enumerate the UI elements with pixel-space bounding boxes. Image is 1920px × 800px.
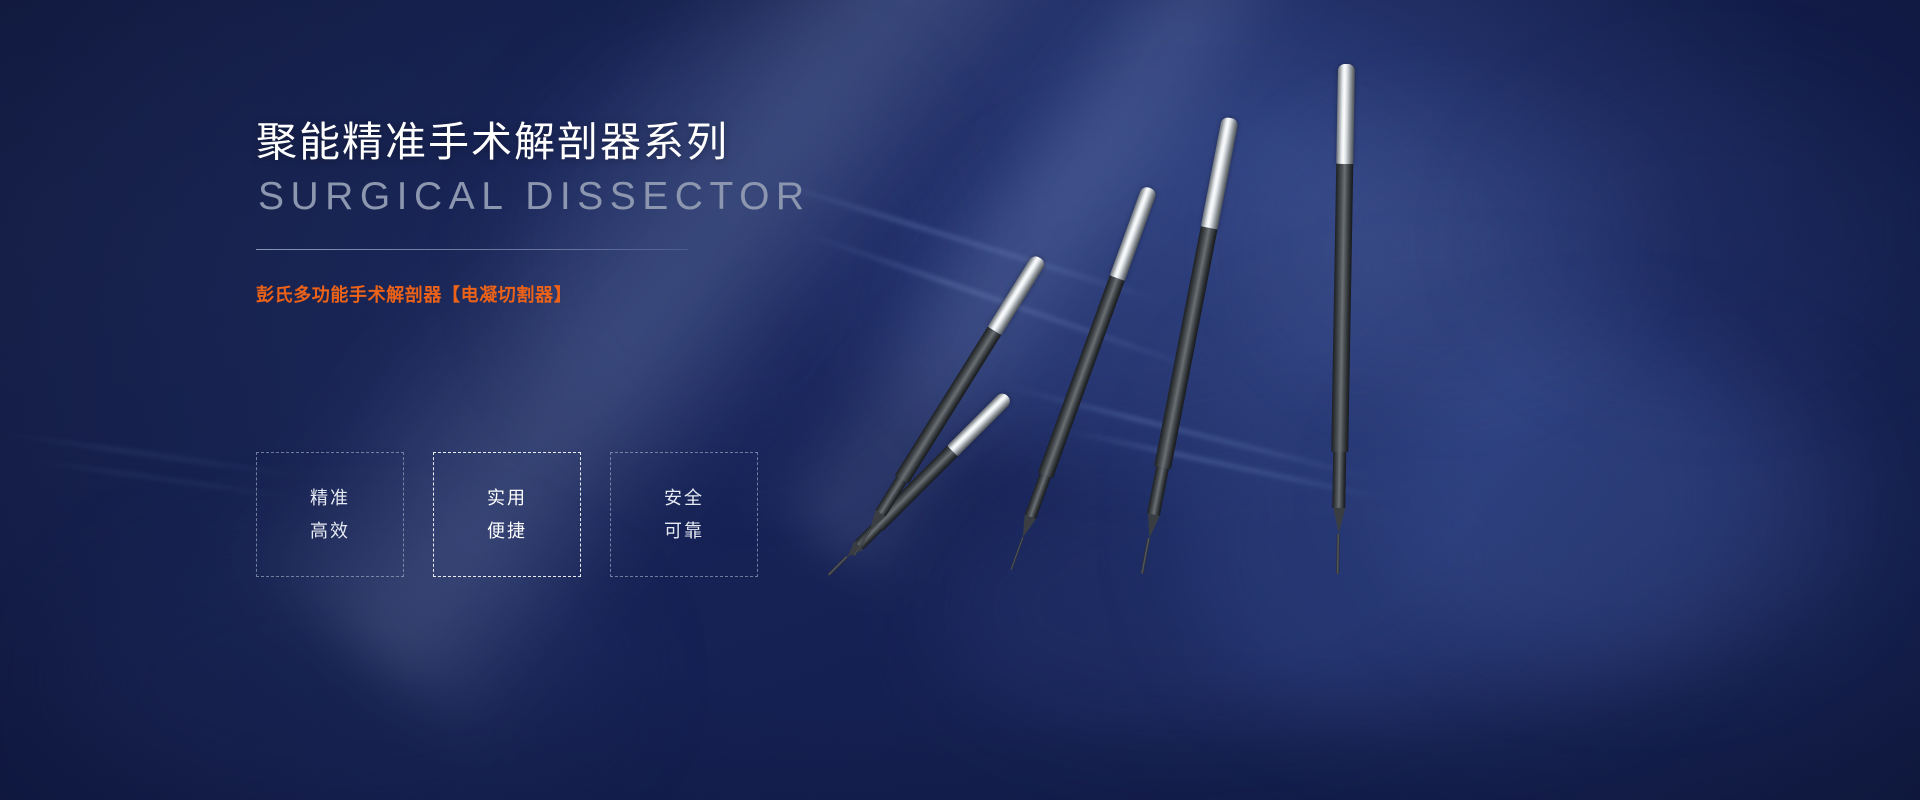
instrument-taper <box>1332 508 1344 534</box>
instrument-needle-tip <box>1336 534 1339 574</box>
feature-badge-line-1: 精准 <box>310 485 350 511</box>
instrument-needle-tip <box>1141 538 1150 574</box>
feature-badge-line-2: 高效 <box>310 518 350 544</box>
instrument-shaft <box>1154 226 1217 469</box>
product-name-highlight: 彭氏多功能手术解剖器【电凝切割器】 <box>256 281 1016 307</box>
divider <box>256 249 688 250</box>
product-hero-banner: 聚能精准手术解剖器系列 SURGICAL DISSECTOR 彭氏多功能手术解剖… <box>0 0 1920 800</box>
feature-badges: 精准 高效 实用 便捷 安全 可靠 <box>256 452 758 577</box>
instrument-shaft-mid <box>1147 466 1169 516</box>
feature-badge-line-1: 安全 <box>664 485 704 511</box>
instrument-metal-handle <box>1201 116 1239 229</box>
dissector-probe-2 <box>1134 116 1239 575</box>
feature-badge-precision[interactable]: 精准 高效 <box>256 452 404 577</box>
feature-badge-line-2: 可靠 <box>664 518 704 544</box>
feature-badge-line-2: 便捷 <box>487 518 527 544</box>
instrument-shaft <box>1038 275 1125 478</box>
feature-badge-line-1: 实用 <box>487 485 527 511</box>
dissector-probe-3 <box>1004 185 1158 572</box>
instrument-needle-tip <box>828 556 848 576</box>
instrument-shaft-mid <box>1332 452 1346 508</box>
feature-badge-safety[interactable]: 安全 可靠 <box>610 452 758 577</box>
instrument-shaft <box>1331 164 1353 452</box>
instrument-needle-tip <box>853 530 871 557</box>
dissector-probe-1 <box>1329 64 1355 574</box>
instrument-shaft-mid <box>1025 473 1051 518</box>
hero-copy-block: 聚能精准手术解剖器系列 SURGICAL DISSECTOR 彭氏多功能手术解剖… <box>256 120 1016 307</box>
instrument-taper <box>1017 515 1036 540</box>
instrument-metal-handle <box>1110 185 1158 281</box>
page-subtitle-english: SURGICAL DISSECTOR <box>258 176 1016 219</box>
feature-badge-practical[interactable]: 实用 便捷 <box>433 452 581 577</box>
instrument-taper <box>1143 513 1159 539</box>
instrument-needle-tip <box>1010 537 1024 570</box>
instrument-metal-handle <box>1336 64 1355 164</box>
page-title: 聚能精准手术解剖器系列 <box>256 120 1016 166</box>
